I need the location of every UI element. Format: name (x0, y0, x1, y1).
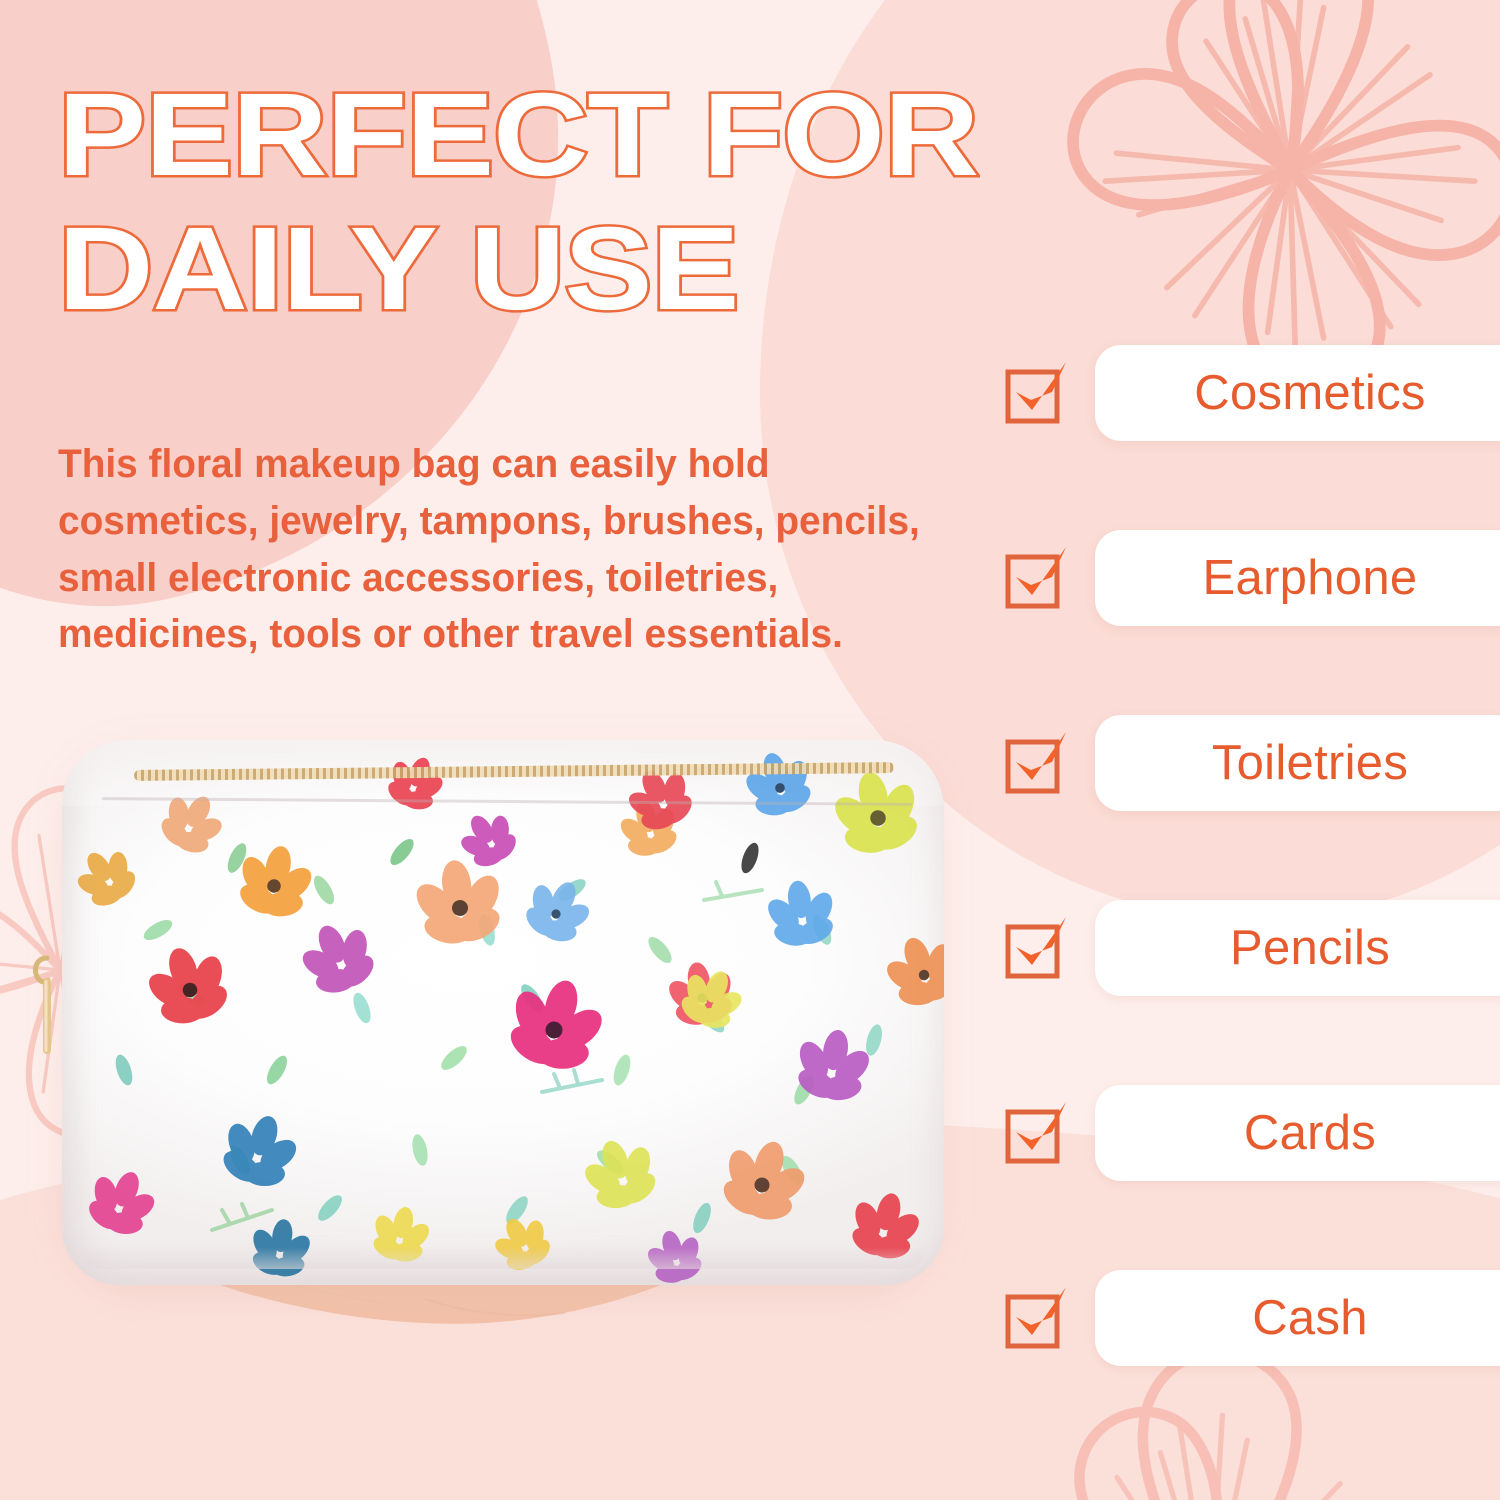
checklist-label: Pencils (1230, 920, 1390, 976)
checklist-item-pencils[interactable]: Pencils (1005, 900, 1500, 996)
checklist-pill[interactable]: Cards (1095, 1085, 1500, 1181)
checkbox-checked-icon[interactable] (1005, 1287, 1067, 1349)
checkbox-checked-icon[interactable] (1005, 362, 1067, 424)
checklist-pill[interactable]: Pencils (1095, 900, 1500, 996)
infographic-poster: PERFECT FOR DAILY USE This floral makeup… (0, 0, 1500, 1500)
checklist-label: Toiletries (1212, 735, 1408, 791)
page-title: PERFECT FOR DAILY USE (58, 78, 1038, 327)
checklist-label: Earphone (1203, 550, 1418, 606)
checklist-pill[interactable]: Cosmetics (1095, 345, 1500, 441)
bag-bottom-seam (80, 1247, 926, 1269)
checkbox-checked-icon[interactable] (1005, 547, 1067, 609)
checklist-label: Cosmetics (1194, 365, 1425, 421)
checklist-item-toiletries[interactable]: Toiletries (1005, 715, 1500, 811)
checkbox-checked-icon[interactable] (1005, 917, 1067, 979)
checklist-item-cosmetics[interactable]: Cosmetics (1005, 345, 1500, 441)
checklist-pill[interactable]: Cash (1095, 1270, 1500, 1366)
floral-print (62, 740, 944, 1285)
feature-checklist: Cosmetics Earphone Toiletr (1005, 345, 1500, 1366)
zipper-pull-icon (32, 950, 62, 1066)
headline-line-1: PERFECT FOR (58, 78, 1156, 194)
checkbox-checked-icon[interactable] (1005, 1102, 1067, 1164)
checkbox-checked-icon[interactable] (1005, 732, 1067, 794)
checklist-pill[interactable]: Toiletries (1095, 715, 1500, 811)
checklist-label: Cards (1244, 1105, 1376, 1161)
checklist-item-earphone[interactable]: Earphone (1005, 530, 1500, 626)
makeup-bag (62, 740, 944, 1285)
headline-line-2: DAILY USE (58, 212, 1156, 328)
checklist-item-cards[interactable]: Cards (1005, 1085, 1500, 1181)
product-description: This floral makeup bag can easily hold c… (58, 436, 970, 663)
checklist-label: Cash (1252, 1290, 1368, 1346)
checklist-pill[interactable]: Earphone (1095, 530, 1500, 626)
checklist-item-cash[interactable]: Cash (1005, 1270, 1500, 1366)
product-image (30, 718, 950, 1318)
